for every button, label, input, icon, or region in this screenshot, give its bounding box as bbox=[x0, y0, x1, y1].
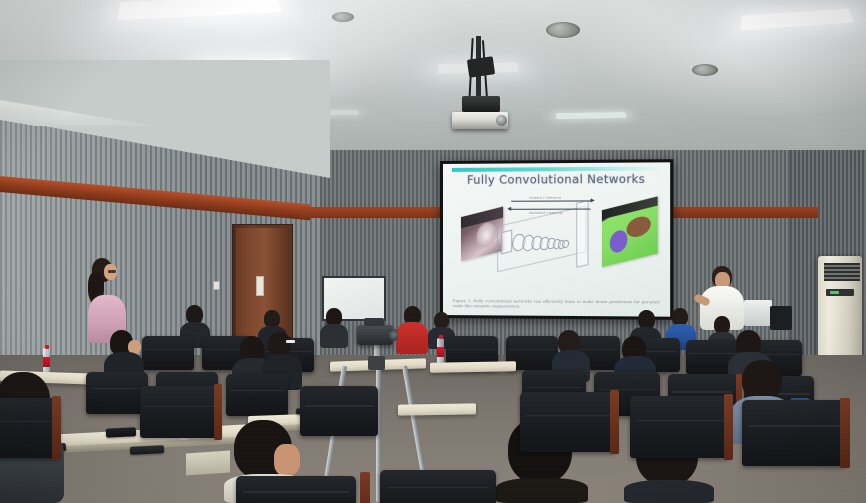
wall-trim-band bbox=[300, 207, 440, 218]
audience-body-red bbox=[396, 322, 428, 354]
water-bottle[interactable] bbox=[43, 348, 50, 373]
chair-wood-trim bbox=[840, 398, 850, 468]
bottle-cap bbox=[45, 345, 49, 349]
diagram-arrowhead bbox=[591, 198, 595, 202]
chair-wood-trim bbox=[360, 472, 370, 503]
diagram-arrow-forward-label: forward / inference bbox=[529, 195, 561, 199]
ceiling-speaker bbox=[332, 12, 354, 22]
bottle-label bbox=[437, 347, 444, 357]
presenter-laptop bbox=[744, 300, 772, 326]
audience-chair[interactable] bbox=[630, 396, 730, 458]
water-bottle[interactable] bbox=[437, 338, 444, 364]
audience-chair[interactable] bbox=[520, 392, 616, 452]
air-conditioner-indicator bbox=[830, 291, 839, 294]
desk-modesty-panel bbox=[186, 450, 230, 475]
podium-monitor bbox=[770, 306, 792, 330]
lecture-room-photo: Fully Convolutional Networks bbox=[0, 0, 866, 503]
glasses-icon bbox=[108, 270, 116, 273]
slide-title: Fully Convolutional Networks bbox=[443, 172, 670, 187]
ceiling-speaker bbox=[692, 64, 718, 76]
diagram-frustum bbox=[497, 205, 586, 272]
bottle-label bbox=[43, 357, 50, 367]
air-conditioner-vent bbox=[824, 263, 860, 281]
audience-body bbox=[496, 478, 588, 503]
audience-chair[interactable] bbox=[142, 336, 194, 370]
audience-chair[interactable] bbox=[226, 374, 288, 416]
diagram-upsample-slab bbox=[576, 200, 588, 268]
desk bbox=[398, 403, 476, 415]
laptop-closed[interactable] bbox=[106, 427, 136, 438]
audience-chair[interactable] bbox=[140, 386, 220, 438]
diagram-arrow-backward-label: backward / learning bbox=[529, 211, 562, 215]
light-switch[interactable] bbox=[213, 281, 220, 290]
projector-lens bbox=[496, 115, 507, 126]
audience-chair[interactable] bbox=[86, 372, 148, 414]
slide-figure-caption: Figure 1. Fully convolutional networks c… bbox=[453, 298, 660, 310]
tripod-head[interactable] bbox=[368, 356, 385, 370]
audience-body bbox=[320, 324, 348, 348]
projector-bracket bbox=[467, 56, 495, 77]
wall-trim-band bbox=[668, 207, 818, 218]
audience-chair[interactable] bbox=[742, 400, 846, 466]
chair-wood-trim bbox=[52, 396, 61, 460]
camera-lens bbox=[388, 329, 398, 341]
audience-body bbox=[624, 480, 714, 503]
chair-wood-trim bbox=[214, 384, 222, 440]
door-sign bbox=[256, 276, 264, 296]
chair-wood-trim bbox=[610, 390, 619, 454]
bottle-cap bbox=[439, 335, 443, 339]
projection-screen: Fully Convolutional Networks bbox=[440, 159, 673, 320]
diagram-arrowhead bbox=[507, 207, 511, 211]
glasses-icon bbox=[286, 340, 295, 343]
chair-wood-trim bbox=[724, 394, 733, 460]
presentation-slide: Fully Convolutional Networks bbox=[443, 162, 670, 316]
audience-chair[interactable] bbox=[300, 386, 378, 436]
audience-face bbox=[274, 444, 300, 476]
ceiling-speaker bbox=[546, 22, 580, 38]
audience-chair[interactable] bbox=[236, 476, 356, 503]
video-camera-handle bbox=[364, 318, 384, 326]
fcn-diagram: forward / inference backward / learning bbox=[449, 191, 664, 277]
audience-chair[interactable] bbox=[380, 470, 496, 503]
projector-bracket bbox=[462, 96, 500, 112]
audience-chair[interactable] bbox=[0, 398, 60, 458]
